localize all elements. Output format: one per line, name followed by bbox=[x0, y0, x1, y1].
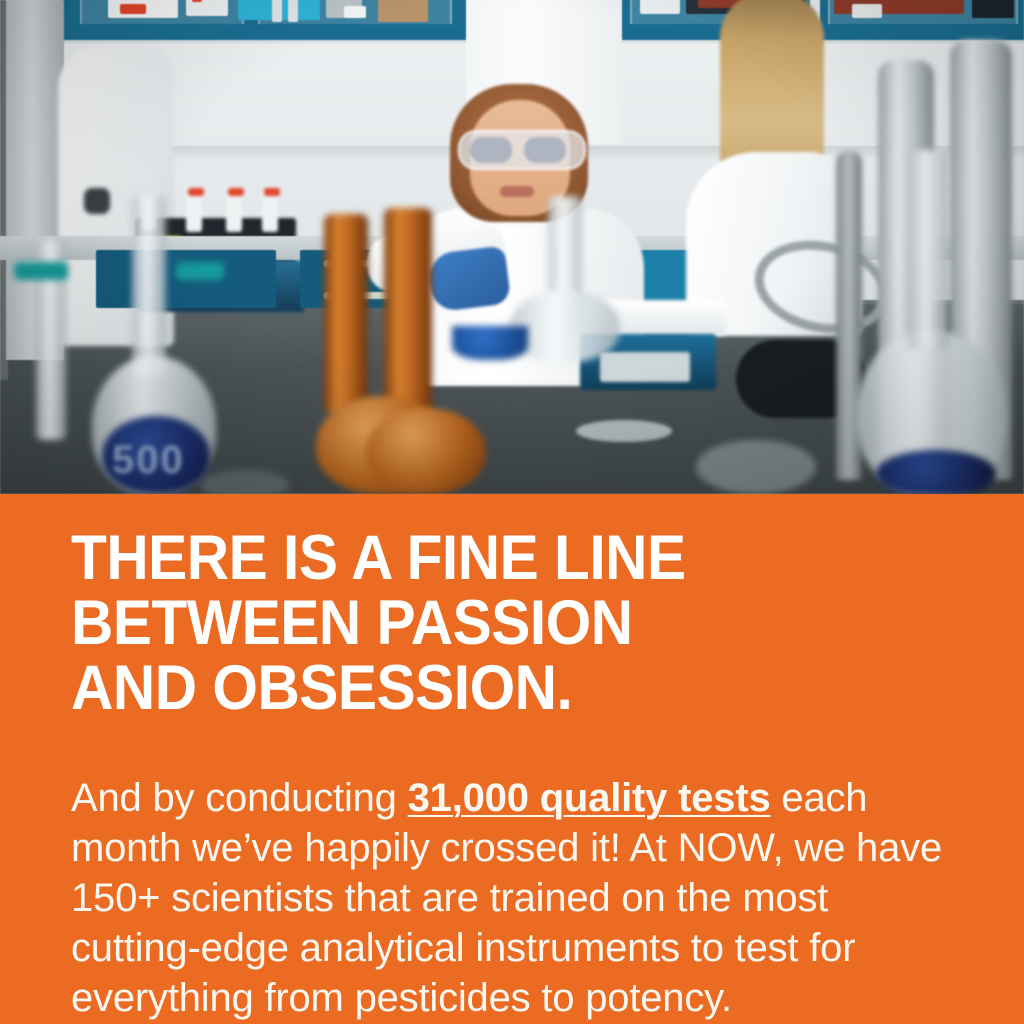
shelf-bottle bbox=[288, 0, 298, 22]
lab-photo: 500 bbox=[0, 0, 1024, 494]
shelf-cup bbox=[344, 6, 366, 18]
flask-volume-label: 500 bbox=[112, 438, 185, 483]
scientist-right-blonde bbox=[676, 0, 856, 332]
mouth bbox=[500, 186, 534, 197]
test-tube-cap bbox=[188, 188, 204, 196]
shelf-dark-gap bbox=[972, 0, 1014, 18]
glass-teal-marking bbox=[176, 262, 224, 280]
shelf-cardboard-box bbox=[378, 0, 428, 22]
amber-flask-neck bbox=[324, 214, 368, 414]
amber-volumetric-flask bbox=[366, 408, 486, 494]
foreground-glass-blur bbox=[696, 440, 816, 494]
scientist-center-foreground bbox=[398, 78, 648, 328]
headline-line-3: AND OBSESSION. bbox=[71, 656, 908, 721]
shelf-bottle bbox=[272, 0, 282, 22]
upper-cabinet-left bbox=[62, 0, 466, 43]
flask-blue-solution bbox=[452, 326, 528, 360]
amber-flask-neck bbox=[384, 208, 432, 420]
quality-tests-emphasis: 31,000 quality tests bbox=[408, 776, 771, 820]
headline-line-2: BETWEEN PASSION bbox=[71, 591, 908, 656]
safety-goggles-icon bbox=[458, 130, 586, 170]
blue-nitrile-glove bbox=[427, 245, 511, 312]
lab-scene-illustration: 500 bbox=[0, 0, 1024, 494]
test-tube-cap bbox=[228, 188, 244, 196]
shelf-box bbox=[640, 0, 680, 14]
foreground-flask-neck bbox=[132, 196, 166, 376]
flask-blue-liquid bbox=[876, 450, 996, 494]
foreground-glass-blur bbox=[200, 470, 290, 494]
body-text-before: And by conducting bbox=[71, 776, 408, 820]
instrument-panel bbox=[600, 352, 690, 382]
promo-canvas: 500 THERE IS A FINE LINE BETWEEN PASS bbox=[0, 0, 1024, 1024]
glass-teal-marking bbox=[14, 262, 68, 280]
test-tube-cap bbox=[264, 188, 280, 196]
test-tube bbox=[262, 190, 278, 232]
test-tube bbox=[226, 190, 242, 232]
orange-message-panel: THERE IS A FINE LINE BETWEEN PASSION AND… bbox=[0, 494, 1024, 1024]
goggle-lens bbox=[524, 137, 566, 163]
watch-glass bbox=[576, 420, 672, 442]
person-left-hand bbox=[84, 188, 110, 214]
body-paragraph: And by conducting 31,000 quality tests e… bbox=[71, 773, 951, 1023]
goggle-lens bbox=[470, 137, 512, 163]
shelf-cup bbox=[852, 4, 882, 18]
test-tube bbox=[186, 190, 202, 232]
shelf-label-red bbox=[120, 4, 146, 14]
headline-line-1: THERE IS A FINE LINE bbox=[71, 526, 908, 591]
page-title: THERE IS A FINE LINE BETWEEN PASSION AND… bbox=[71, 526, 908, 721]
shelf-label-red bbox=[192, 0, 202, 2]
shelf-box bbox=[186, 0, 228, 16]
foreground-flask-neck-right bbox=[908, 150, 948, 350]
